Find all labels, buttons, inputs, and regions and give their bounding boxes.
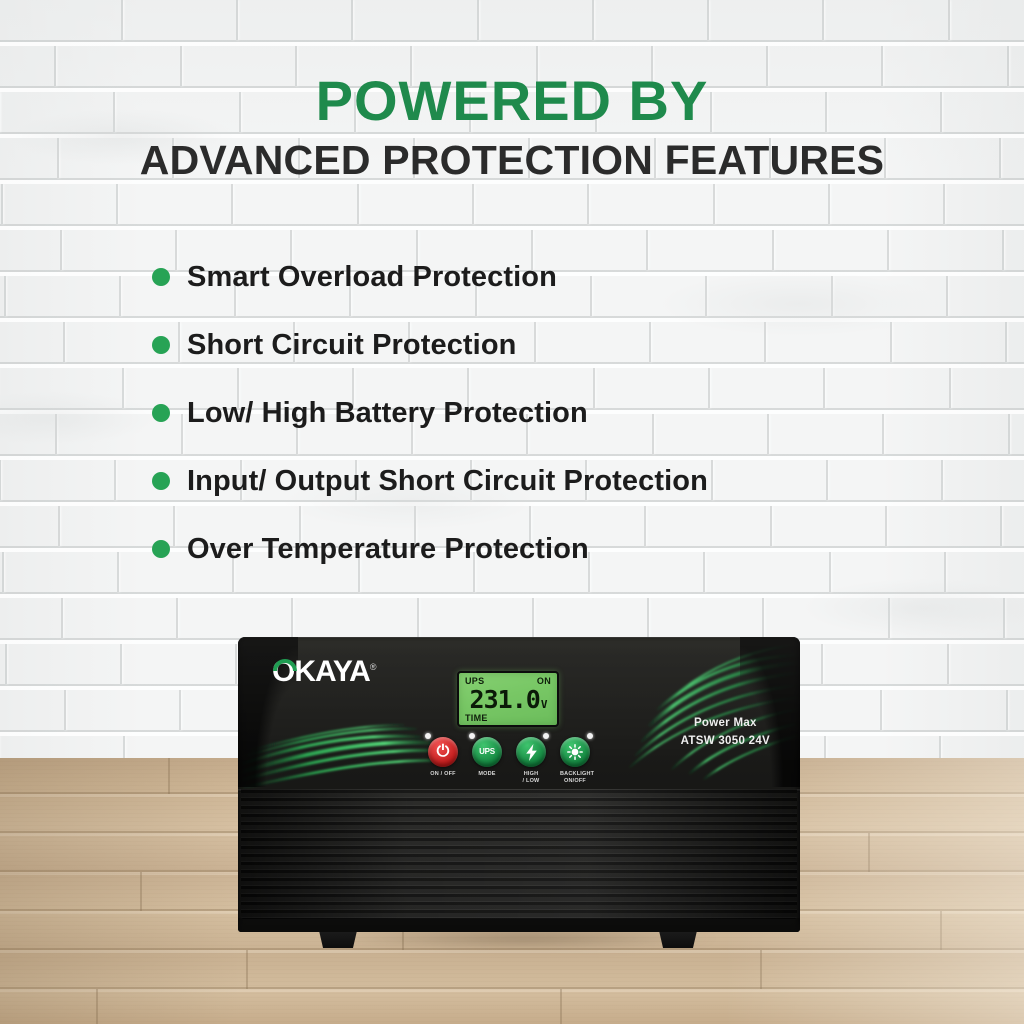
- model-series: Power Max: [681, 715, 770, 733]
- bullet-dot-icon: [152, 268, 170, 286]
- lcd-voltage-value: 231.0: [470, 685, 540, 714]
- headline-secondary: ADVANCED PROTECTION FEATURES: [0, 138, 1024, 184]
- lcd-time-label: TIME: [465, 713, 551, 723]
- headline-block: POWERED BY ADVANCED PROTECTION FEATURES: [0, 72, 1024, 184]
- feature-label: Smart Overload Protection: [187, 261, 557, 294]
- list-item: Low/ High Battery Protection: [152, 379, 912, 447]
- lcd-voltage-unit: V: [541, 698, 547, 711]
- power-icon[interactable]: ⏻: [428, 737, 458, 767]
- lcd-display: UPS ON 231.0V TIME: [457, 671, 559, 727]
- headline-primary: POWERED BY: [0, 72, 1024, 130]
- model-number: ATSW 3050 24V: [681, 733, 770, 751]
- body-bottom-edge: [238, 918, 800, 932]
- button-label: MODE: [472, 771, 502, 778]
- button-label: ON / OFF: [428, 771, 458, 778]
- button-high-low[interactable]: HIGH/ LOW: [516, 737, 546, 785]
- feature-label: Input/ Output Short Circuit Protection: [187, 465, 708, 498]
- button-on-off[interactable]: ⏻ ON / OFF: [428, 737, 458, 785]
- led-indicator: [469, 733, 475, 739]
- inverter-product-image: OKAYA® UPS ON 231.0V TIME ⏻: [238, 637, 800, 932]
- ups-icon[interactable]: UPS: [472, 737, 502, 767]
- feature-label: Low/ High Battery Protection: [187, 397, 588, 430]
- list-item: Short Circuit Protection: [152, 311, 912, 379]
- feature-list: Smart Overload Protection Short Circuit …: [152, 243, 912, 583]
- list-item: Input/ Output Short Circuit Protection: [152, 447, 912, 515]
- button-backlight[interactable]: BACKLIGHTON/OFF: [560, 737, 590, 785]
- feature-label: Short Circuit Protection: [187, 329, 516, 362]
- led-indicator: [587, 733, 593, 739]
- button-mode[interactable]: UPS MODE: [472, 737, 502, 785]
- led-indicator: [543, 733, 549, 739]
- control-button-row: ⏻ ON / OFF UPS MODE: [428, 737, 593, 785]
- button-label: HIGH/ LOW: [516, 771, 546, 785]
- list-item: Smart Overload Protection: [152, 243, 912, 311]
- bullet-dot-icon: [152, 540, 170, 558]
- inverter-body: OKAYA® UPS ON 231.0V TIME ⏻: [238, 637, 800, 932]
- lightning-glyph: [525, 744, 538, 761]
- lightning-icon[interactable]: [516, 737, 546, 767]
- list-item: Over Temperature Protection: [152, 515, 912, 583]
- bullet-dot-icon: [152, 336, 170, 354]
- feature-label: Over Temperature Protection: [187, 533, 589, 566]
- bullet-dot-icon: [152, 472, 170, 490]
- product-banner: POWERED BY ADVANCED PROTECTION FEATURES …: [0, 0, 1024, 1024]
- registered-mark: ®: [370, 662, 376, 672]
- floor-left-shading: [0, 758, 240, 1024]
- bullet-dot-icon: [152, 404, 170, 422]
- brand-logo: OKAYA®: [272, 657, 375, 687]
- led-indicator: [425, 733, 431, 739]
- brightness-glyph: [567, 744, 583, 760]
- model-designation: Power Max ATSW 3050 24V: [681, 715, 770, 751]
- button-label: BACKLIGHTON/OFF: [560, 771, 590, 785]
- brightness-icon[interactable]: [560, 737, 590, 767]
- ventilation-fins: [241, 789, 797, 919]
